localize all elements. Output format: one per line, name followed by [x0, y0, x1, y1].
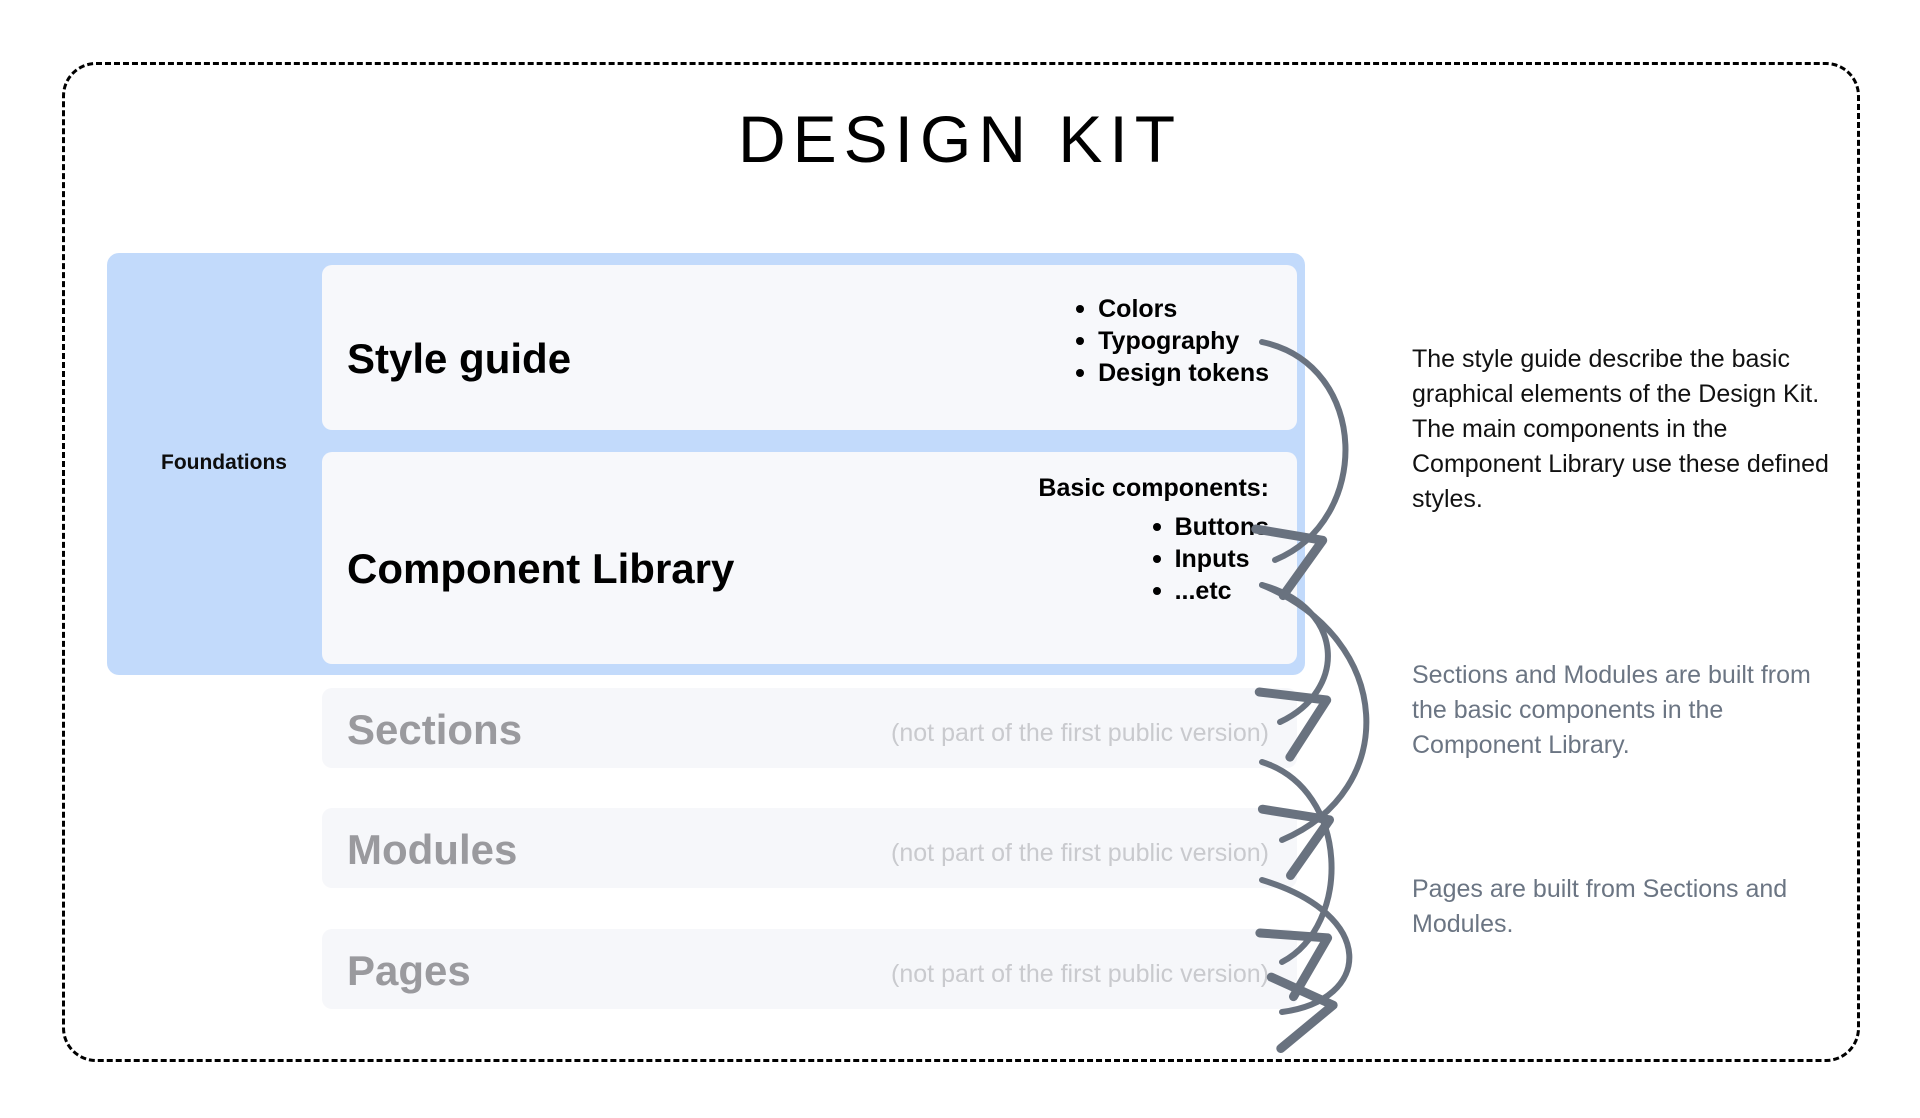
page-title: DESIGN KIT	[0, 106, 1920, 172]
card-modules[interactable]: Modules (not part of the first public ve…	[322, 808, 1297, 888]
list-item: Typography	[1072, 325, 1269, 357]
card-modules-title: Modules	[347, 829, 517, 871]
annotation-style-guide: The style guide describe the basic graph…	[1412, 342, 1842, 517]
card-modules-note: (not part of the first public version)	[891, 841, 1269, 866]
card-component-library[interactable]: Component Library Basic components: Butt…	[322, 452, 1297, 664]
card-pages[interactable]: Pages (not part of the first public vers…	[322, 929, 1297, 1009]
list-item: Buttons	[1149, 511, 1269, 543]
list-item: Inputs	[1149, 543, 1269, 575]
card-pages-note: (not part of the first public version)	[891, 962, 1269, 987]
card-sections-title: Sections	[347, 709, 522, 751]
list-item: Design tokens	[1072, 357, 1269, 389]
card-sections[interactable]: Sections (not part of the first public v…	[322, 688, 1297, 768]
annotation-sections-modules: Sections and Modules are built from the …	[1412, 658, 1842, 763]
foundations-label: Foundations	[129, 450, 319, 475]
card-component-library-title: Component Library	[347, 548, 734, 590]
list-item: ...etc	[1149, 575, 1269, 607]
annotation-pages: Pages are built from Sections and Module…	[1412, 872, 1842, 942]
card-style-guide-title: Style guide	[347, 338, 571, 380]
card-component-library-bullets: Buttons Inputs ...etc	[1149, 511, 1269, 607]
design-kit-diagram: DESIGN KIT Foundations Style guide Color…	[0, 0, 1920, 1118]
card-component-library-bullets-heading: Basic components:	[1038, 472, 1269, 504]
list-item: Colors	[1072, 293, 1269, 325]
card-pages-title: Pages	[347, 950, 471, 992]
card-style-guide[interactable]: Style guide Colors Typography Design tok…	[322, 265, 1297, 430]
card-sections-note: (not part of the first public version)	[891, 721, 1269, 746]
card-style-guide-bullets: Colors Typography Design tokens	[1072, 293, 1269, 389]
